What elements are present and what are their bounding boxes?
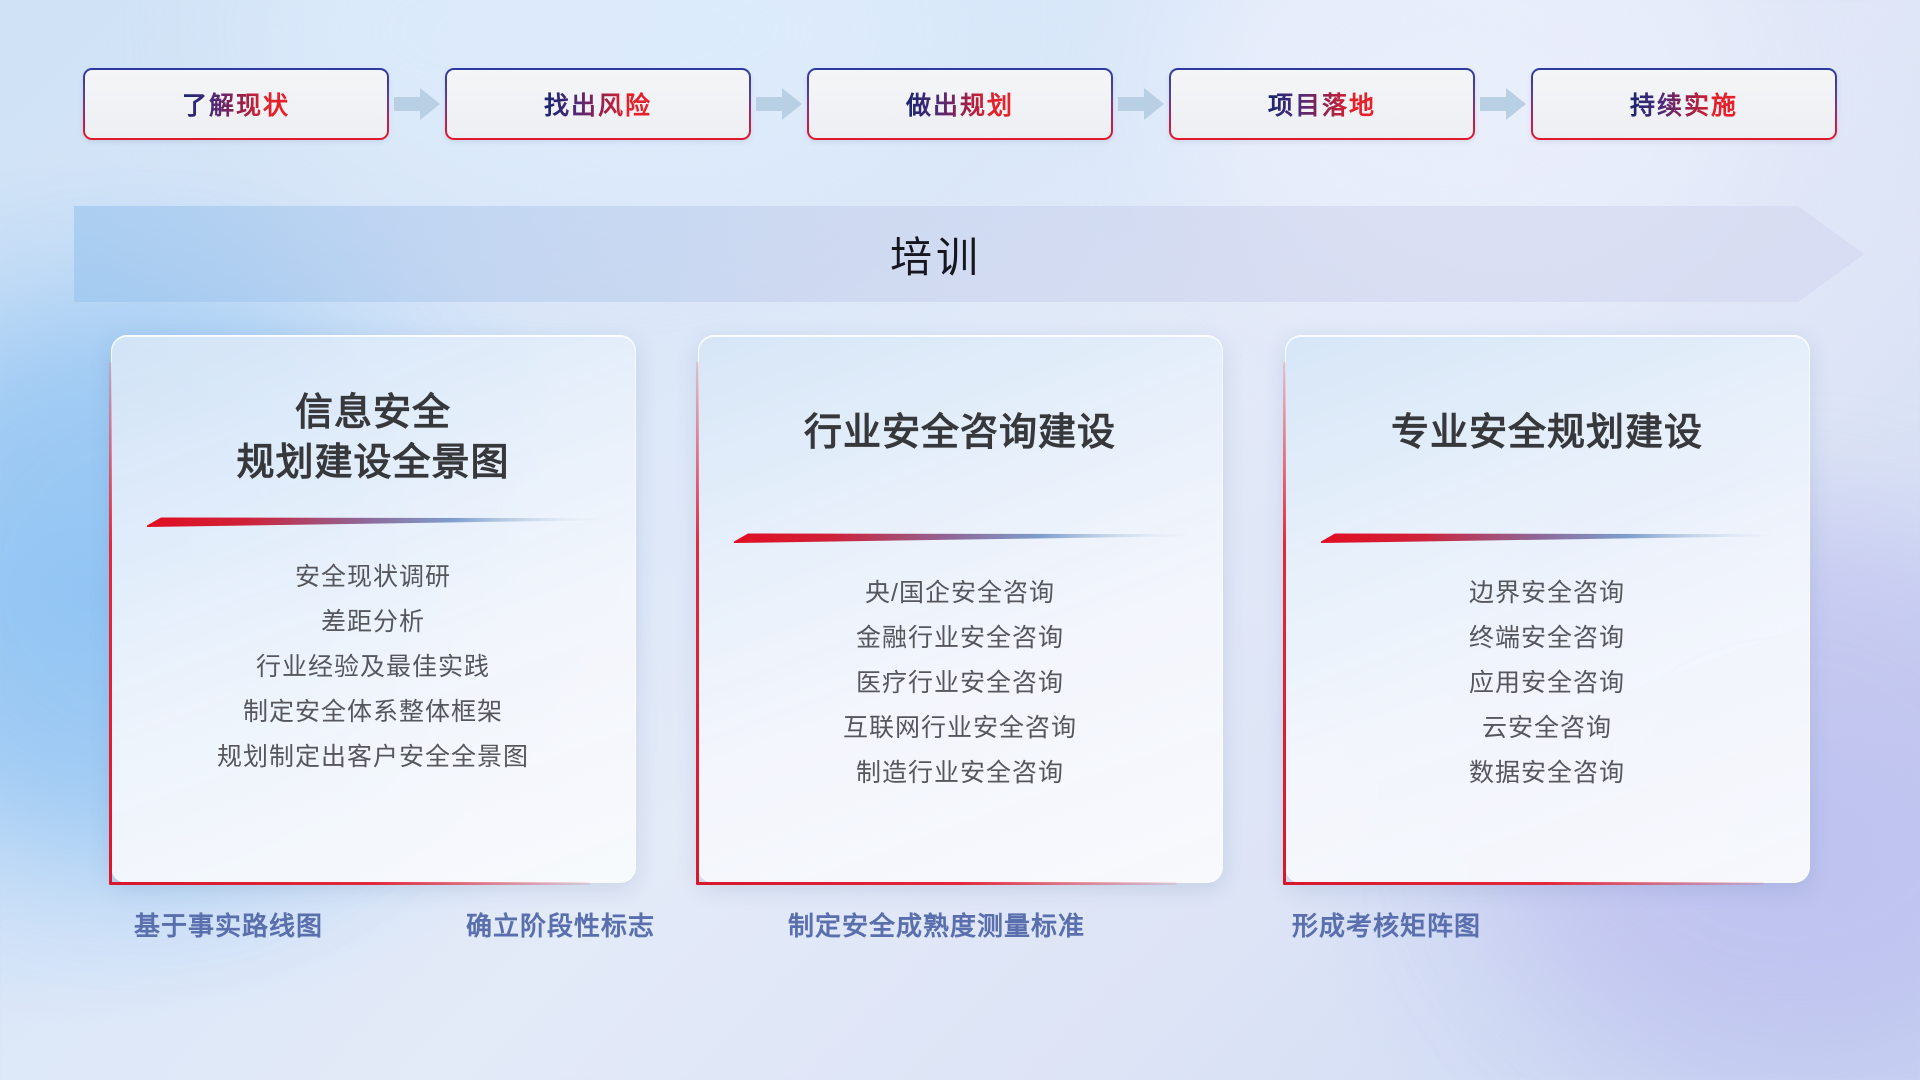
- list-item: 数据安全咨询: [1286, 751, 1809, 796]
- step-label-1: 了解现状: [182, 86, 290, 122]
- card-item-list: 边界安全咨询 终端安全咨询 应用安全咨询 云安全咨询 数据安全咨询: [1286, 571, 1809, 796]
- card-information-security-panorama[interactable]: 信息安全 规划建设全景图 安全现状调研 差距分析 行: [111, 335, 636, 883]
- card-divider-wedge-icon: [1321, 530, 1773, 543]
- process-step-row: 了解现状 找出风险 做出规划 项目落地 持续实施: [0, 68, 1920, 140]
- footnote-label-4: 形成考核矩阵图: [1292, 906, 1481, 943]
- card-divider-wedge-icon: [734, 530, 1186, 543]
- step-label-4: 项目落地: [1268, 86, 1376, 122]
- step-box-1[interactable]: 了解现状: [83, 68, 389, 140]
- list-item: 行业经验及最佳实践: [112, 645, 635, 690]
- step-arrow-icon-3: [1113, 84, 1169, 124]
- card-title: 信息安全 规划建设全景图: [210, 388, 535, 488]
- list-item: 云安全咨询: [1286, 706, 1809, 751]
- step-box-5[interactable]: 持续实施: [1531, 68, 1837, 140]
- step-arrow-icon-2: [751, 84, 807, 124]
- card-item-list: 央/国企安全咨询 金融行业安全咨询 医疗行业安全咨询 互联网行业安全咨询 制造行…: [699, 571, 1222, 796]
- list-item: 规划制定出客户安全全景图: [112, 735, 635, 780]
- step-label-5: 持续实施: [1630, 86, 1738, 122]
- list-item: 安全现状调研: [112, 555, 635, 600]
- list-item: 边界安全咨询: [1286, 571, 1809, 616]
- footnote-label-1: 基于事实路线图: [134, 906, 323, 943]
- list-item: 央/国企安全咨询: [699, 571, 1222, 616]
- step-arrow-icon-1: [389, 84, 445, 124]
- list-item: 制定安全体系整体框架: [112, 690, 635, 735]
- card-title: 专业安全规划建设: [1365, 408, 1729, 458]
- step-label-3: 做出规划: [906, 86, 1014, 122]
- step-arrow-icon-4: [1475, 84, 1531, 124]
- list-item: 互联网行业安全咨询: [699, 706, 1222, 751]
- list-item: 终端安全咨询: [1286, 616, 1809, 661]
- step-label-2: 找出风险: [544, 86, 652, 122]
- list-item: 差距分析: [112, 600, 635, 645]
- training-banner: 培训: [74, 206, 1864, 302]
- card-professional-security-planning[interactable]: 专业安全规划建设 边界安全咨询 终端安全咨询 应用安: [1285, 335, 1810, 883]
- card-title: 行业安全咨询建设: [778, 408, 1142, 458]
- list-item: 制造行业安全咨询: [699, 751, 1222, 796]
- step-box-4[interactable]: 项目落地: [1169, 68, 1475, 140]
- list-item: 医疗行业安全咨询: [699, 661, 1222, 706]
- step-box-3[interactable]: 做出规划: [807, 68, 1113, 140]
- step-box-2[interactable]: 找出风险: [445, 68, 751, 140]
- banner-title: 培训: [74, 206, 1864, 302]
- footnote-label-3: 制定安全成熟度测量标准: [788, 906, 1085, 943]
- card-industry-security-consulting[interactable]: 行业安全咨询建设 央/国企安全咨询 金融行业安全咨询: [698, 335, 1223, 883]
- list-item: 应用安全咨询: [1286, 661, 1809, 706]
- list-item: 金融行业安全咨询: [699, 616, 1222, 661]
- footnote-label-2: 确立阶段性标志: [466, 906, 655, 943]
- card-divider-wedge-icon: [147, 514, 599, 527]
- footnote-row: 基于事实路线图 确立阶段性标志 制定安全成熟度测量标准 形成考核矩阵图: [0, 906, 1920, 956]
- card-item-list: 安全现状调研 差距分析 行业经验及最佳实践 制定安全体系整体框架 规划制定出客户…: [112, 555, 635, 780]
- card-row: 信息安全 规划建设全景图 安全现状调研 差距分析 行: [0, 335, 1920, 883]
